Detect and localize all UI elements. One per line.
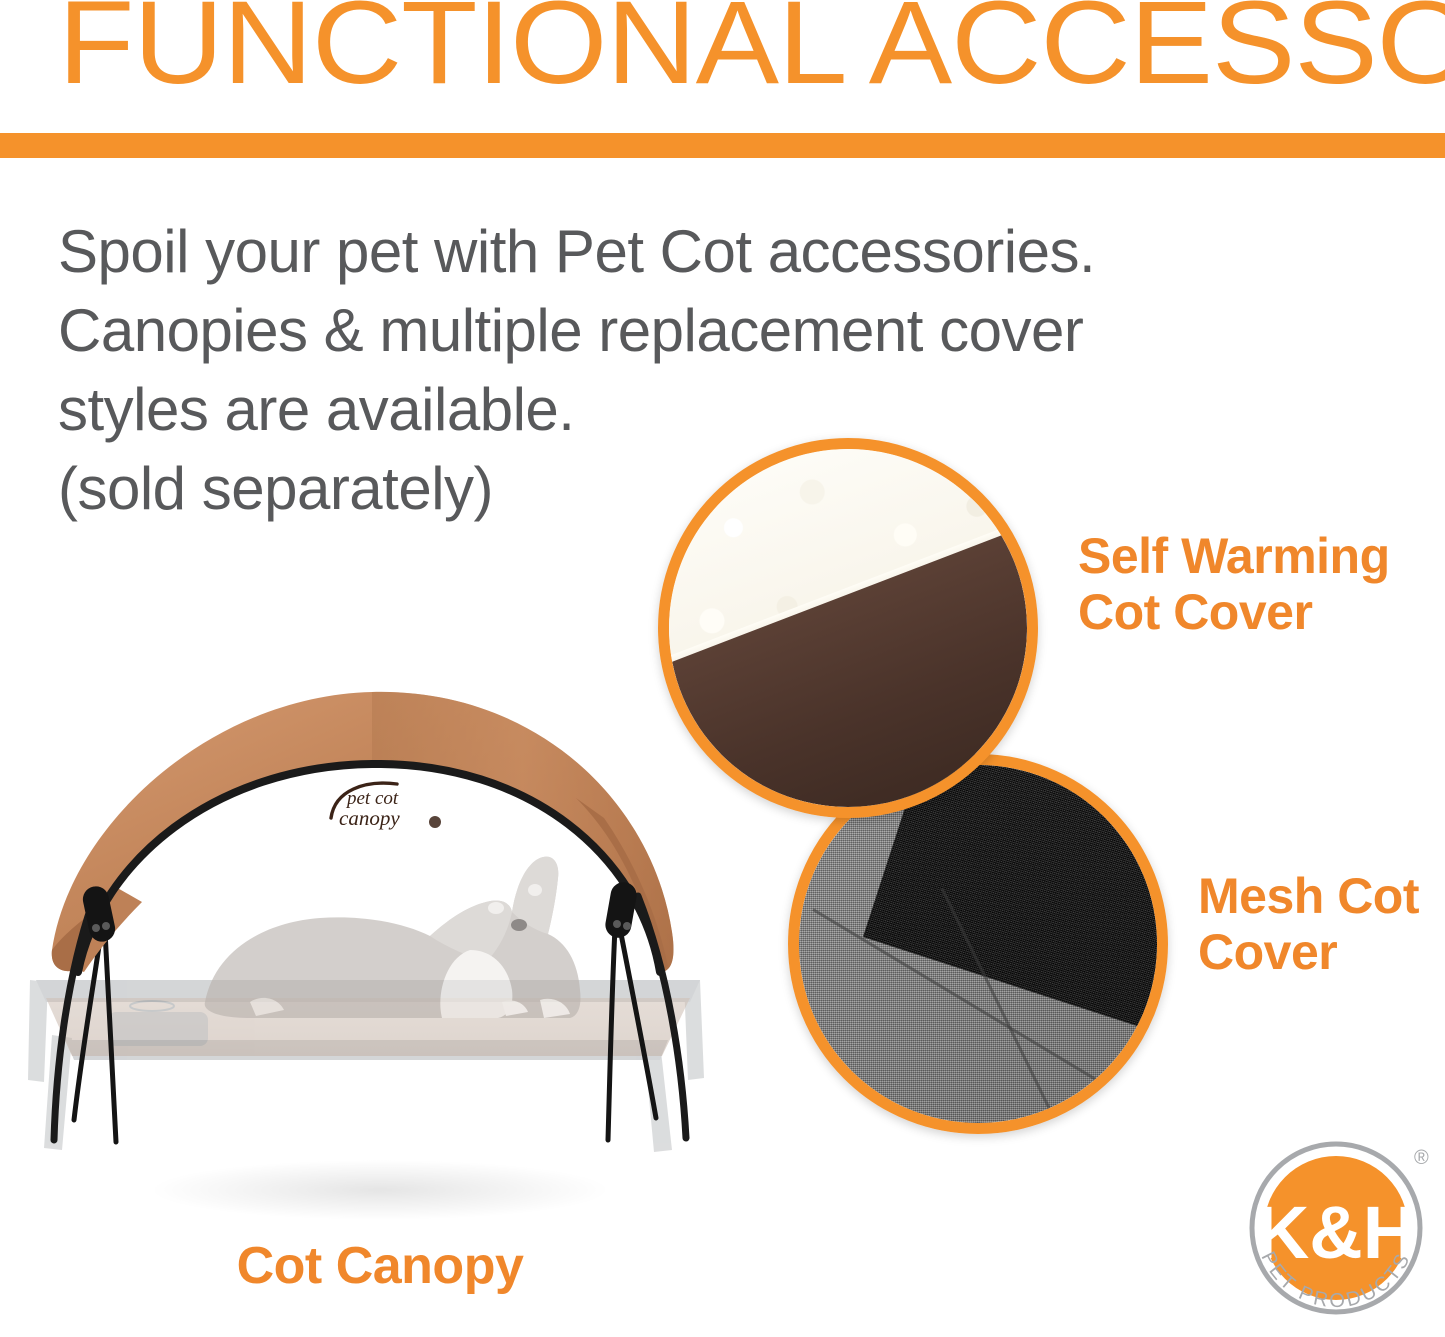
product-caption: Cot Canopy <box>0 1236 760 1296</box>
header-divider-rule <box>0 133 1445 158</box>
callout-line-1: Mesh Cot <box>1198 868 1419 924</box>
intro-line-1: Spoil your pet with Pet Cot accessories. <box>58 212 758 291</box>
poster-canvas: FUNCTIONAL ACCESSORIES Spoil your pet wi… <box>0 0 1445 1336</box>
cot-canopy-product-image <box>0 650 760 1250</box>
mesh-texture <box>799 765 1157 1123</box>
page-title: FUNCTIONAL ACCESSORIES <box>58 0 1445 102</box>
intro-line-4: (sold separately) <box>58 449 758 528</box>
intro-line-3: styles are available. <box>58 370 758 449</box>
intro-line-2: Canopies & multiple replacement cover <box>58 291 758 370</box>
canopy-logo-line-2: canopy <box>339 806 400 830</box>
intro-paragraph: Spoil your pet with Pet Cot accessories.… <box>58 212 758 528</box>
callout-line-2: Cover <box>1198 924 1419 980</box>
callout-label-mesh: Mesh Cot Cover <box>1198 868 1419 980</box>
callout-label-self-warming: Self Warming Cot Cover <box>1078 528 1390 640</box>
registered-trademark-icon: ® <box>1414 1147 1429 1169</box>
callout-line-2: Cot Cover <box>1078 584 1390 640</box>
dog-photo <box>205 857 581 1018</box>
callout-line-1: Self Warming <box>1078 528 1390 584</box>
pet-cot-canopy-embroidery: pet cot canopy <box>325 778 465 840</box>
self-warming-cover-swatch <box>658 438 1038 818</box>
kh-pet-products-logo: K&H PET PRODUCTS ® <box>1238 1136 1434 1332</box>
sherpa-texture <box>669 449 1027 807</box>
